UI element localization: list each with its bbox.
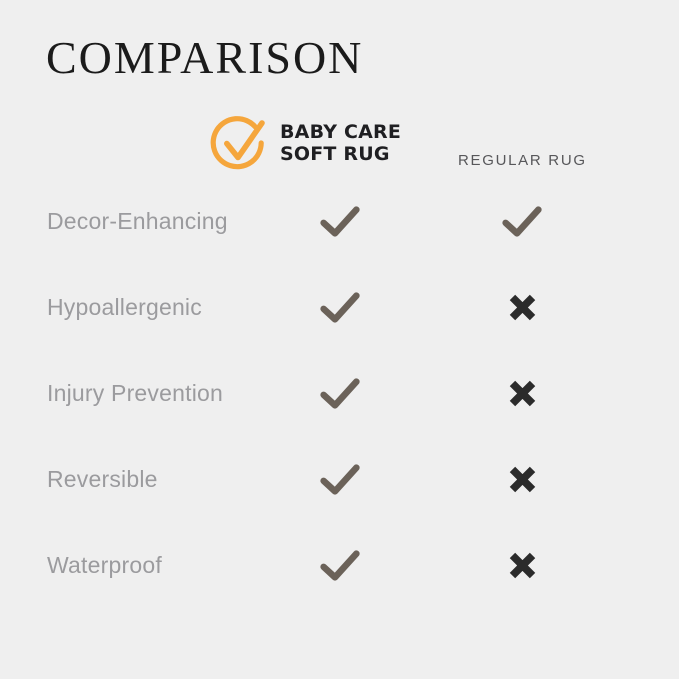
cross-icon xyxy=(482,368,562,418)
cross-icon xyxy=(482,282,562,332)
brand-column-header: BABY CARE SOFT RUG xyxy=(208,112,401,174)
feature-label: Hypoallergenic xyxy=(47,282,202,332)
feature-label: Waterproof xyxy=(47,540,162,590)
brand-name-line-2: SOFT RUG xyxy=(280,143,401,165)
check-icon xyxy=(300,196,380,246)
comparison-row: Injury Prevention xyxy=(0,368,679,454)
comparison-infographic: COMPARISON BABY CARE SOFT RUG REGULAR RU… xyxy=(0,0,679,679)
check-icon xyxy=(300,454,380,504)
feature-label: Decor-Enhancing xyxy=(47,196,228,246)
comparison-row: Hypoallergenic xyxy=(0,282,679,368)
check-icon xyxy=(482,196,562,246)
comparison-header-row: BABY CARE SOFT RUG REGULAR RUG xyxy=(0,112,679,180)
check-icon xyxy=(300,368,380,418)
page-title: COMPARISON xyxy=(46,32,363,84)
feature-label: Reversible xyxy=(47,454,158,504)
comparison-rows: Decor-EnhancingHypoallergenicInjury Prev… xyxy=(0,196,679,626)
brand-logo-check-circle-icon xyxy=(208,112,270,174)
cross-icon xyxy=(482,540,562,590)
check-icon xyxy=(300,540,380,590)
comparison-row: Decor-Enhancing xyxy=(0,196,679,282)
brand-name: BABY CARE SOFT RUG xyxy=(280,121,401,165)
feature-label: Injury Prevention xyxy=(47,368,223,418)
regular-column-header: REGULAR RUG xyxy=(458,152,587,169)
comparison-row: Waterproof xyxy=(0,540,679,626)
cross-icon xyxy=(482,454,562,504)
comparison-row: Reversible xyxy=(0,454,679,540)
brand-name-line-1: BABY CARE xyxy=(280,121,401,143)
check-icon xyxy=(300,282,380,332)
